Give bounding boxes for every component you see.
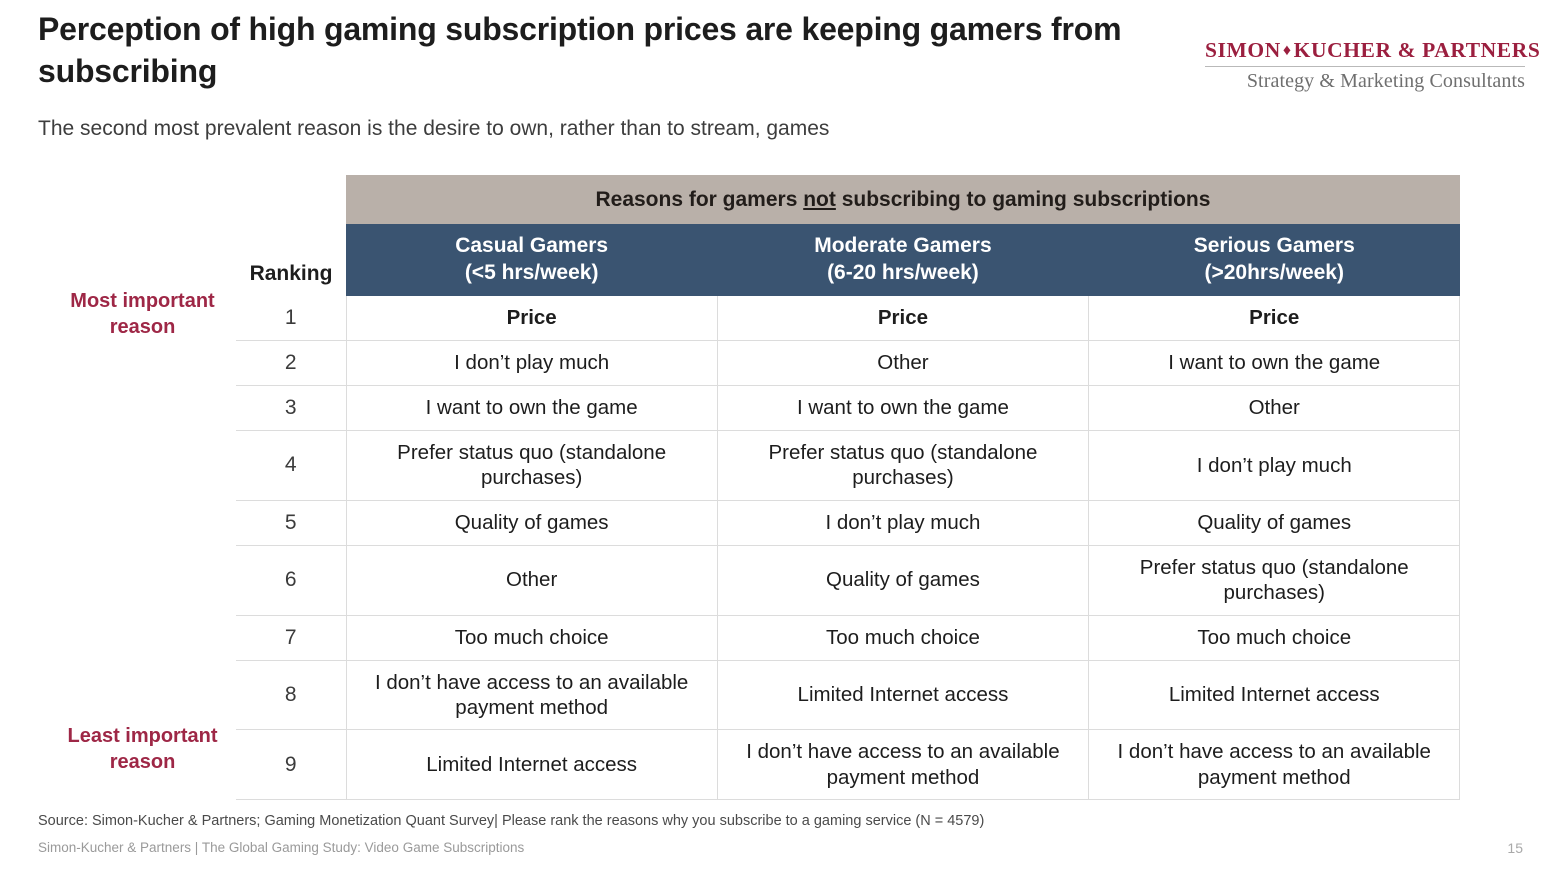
logo-wordmark: SIMON♦KUCHER & PARTNERS	[1205, 38, 1525, 63]
table-row: 3I want to own the gameI want to own the…	[236, 385, 1460, 430]
table-row: 9Limited Internet accessI don’t have acc…	[236, 730, 1460, 800]
logo-word-simon: SIMON	[1205, 38, 1281, 62]
band-title-cell: Reasons for gamers not subscribing to ga…	[346, 175, 1460, 224]
cell-casual: I don’t have access to an available paym…	[346, 660, 717, 730]
table-row: 1PricePricePrice	[236, 296, 1460, 341]
cell-casual: Price	[346, 296, 717, 341]
cell-casual: I don’t play much	[346, 340, 717, 385]
table-band-title-row: Reasons for gamers not subscribing to ga…	[236, 175, 1460, 224]
cell-serious: I don’t play much	[1089, 430, 1460, 500]
rank-cell: 2	[236, 340, 346, 385]
table-row: 8I don’t have access to an available pay…	[236, 660, 1460, 730]
rank-cell: 8	[236, 660, 346, 730]
band-title-spacer	[236, 175, 346, 224]
cell-moderate: I don’t play much	[717, 500, 1088, 545]
reasons-table: Reasons for gamers not subscribing to ga…	[236, 175, 1460, 800]
cell-serious: I want to own the game	[1089, 340, 1460, 385]
cell-serious: Too much choice	[1089, 615, 1460, 660]
page-title: Perception of high gaming subscription p…	[38, 8, 1128, 92]
rank-cell: 5	[236, 500, 346, 545]
cell-casual: Too much choice	[346, 615, 717, 660]
cell-serious: Other	[1089, 385, 1460, 430]
table-row: 7Too much choiceToo much choiceToo much …	[236, 615, 1460, 660]
column-header-serious-name: Serious Gamers	[1093, 233, 1456, 260]
cell-moderate: Other	[717, 340, 1088, 385]
column-header-casual-hours: (<5 hrs/week)	[350, 260, 713, 287]
cell-moderate: I don’t have access to an available paym…	[717, 730, 1088, 800]
cell-casual: I want to own the game	[346, 385, 717, 430]
cell-moderate: Limited Internet access	[717, 660, 1088, 730]
cell-serious: I don’t have access to an available paym…	[1089, 730, 1460, 800]
cell-moderate: Price	[717, 296, 1088, 341]
rank-cell: 4	[236, 430, 346, 500]
footer-company-line: Simon-Kucher & Partners | The Global Gam…	[38, 840, 524, 855]
column-header-moderate-name: Moderate Gamers	[721, 233, 1084, 260]
source-note: Source: Simon-Kucher & Partners; Gaming …	[38, 813, 984, 829]
table-header: Reasons for gamers not subscribing to ga…	[236, 175, 1460, 296]
label-least-important-reason: Least important reason	[40, 723, 245, 775]
rank-cell: 6	[236, 545, 346, 615]
table-row: 5Quality of gamesI don’t play muchQualit…	[236, 500, 1460, 545]
column-header-ranking: Ranking	[236, 224, 346, 296]
rank-cell: 9	[236, 730, 346, 800]
cell-serious: Prefer status quo (standalone purchases)	[1089, 545, 1460, 615]
cell-casual: Other	[346, 545, 717, 615]
column-header-moderate: Moderate Gamers (6-20 hrs/week)	[717, 224, 1088, 296]
column-header-serious: Serious Gamers (>20hrs/week)	[1089, 224, 1460, 296]
table-row: 6OtherQuality of gamesPrefer status quo …	[236, 545, 1460, 615]
page-number: 15	[1507, 840, 1523, 856]
page-subtitle: The second most prevalent reason is the …	[38, 115, 1158, 142]
rank-cell: 3	[236, 385, 346, 430]
cell-casual: Quality of games	[346, 500, 717, 545]
cell-serious: Limited Internet access	[1089, 660, 1460, 730]
cell-moderate: Quality of games	[717, 545, 1088, 615]
column-header-casual-name: Casual Gamers	[350, 233, 713, 260]
reasons-table-container: Reasons for gamers not subscribing to ga…	[236, 175, 1460, 800]
rank-cell: 1	[236, 296, 346, 341]
column-header-casual: Casual Gamers (<5 hrs/week)	[346, 224, 717, 296]
cell-casual: Prefer status quo (standalone purchases)	[346, 430, 717, 500]
logo-tagline: Strategy & Marketing Consultants	[1205, 70, 1525, 93]
label-most-important-reason: Most important reason	[40, 288, 245, 340]
company-logo: SIMON♦KUCHER & PARTNERS Strategy & Marke…	[1205, 38, 1525, 93]
band-title-pre: Reasons for gamers	[595, 188, 803, 211]
logo-divider	[1205, 66, 1525, 67]
table-row: 2I don’t play muchOtherI want to own the…	[236, 340, 1460, 385]
cell-moderate: Prefer status quo (standalone purchases)	[717, 430, 1088, 500]
column-header-serious-hours: (>20hrs/week)	[1093, 260, 1456, 287]
rank-cell: 7	[236, 615, 346, 660]
cell-serious: Quality of games	[1089, 500, 1460, 545]
logo-word-kucher-partners: KUCHER & PARTNERS	[1294, 38, 1541, 62]
band-title-post: subscribing to gaming subscriptions	[836, 188, 1211, 211]
cell-casual: Limited Internet access	[346, 730, 717, 800]
table-group-header-row: Ranking Casual Gamers (<5 hrs/week) Mode…	[236, 224, 1460, 296]
table-body: 1PricePricePrice2I don’t play muchOtherI…	[236, 296, 1460, 800]
column-header-moderate-hours: (6-20 hrs/week)	[721, 260, 1084, 287]
cell-moderate: Too much choice	[717, 615, 1088, 660]
diamond-icon: ♦	[1281, 42, 1294, 59]
cell-serious: Price	[1089, 296, 1460, 341]
band-title-not: not	[803, 188, 836, 211]
cell-moderate: I want to own the game	[717, 385, 1088, 430]
table-row: 4Prefer status quo (standalone purchases…	[236, 430, 1460, 500]
